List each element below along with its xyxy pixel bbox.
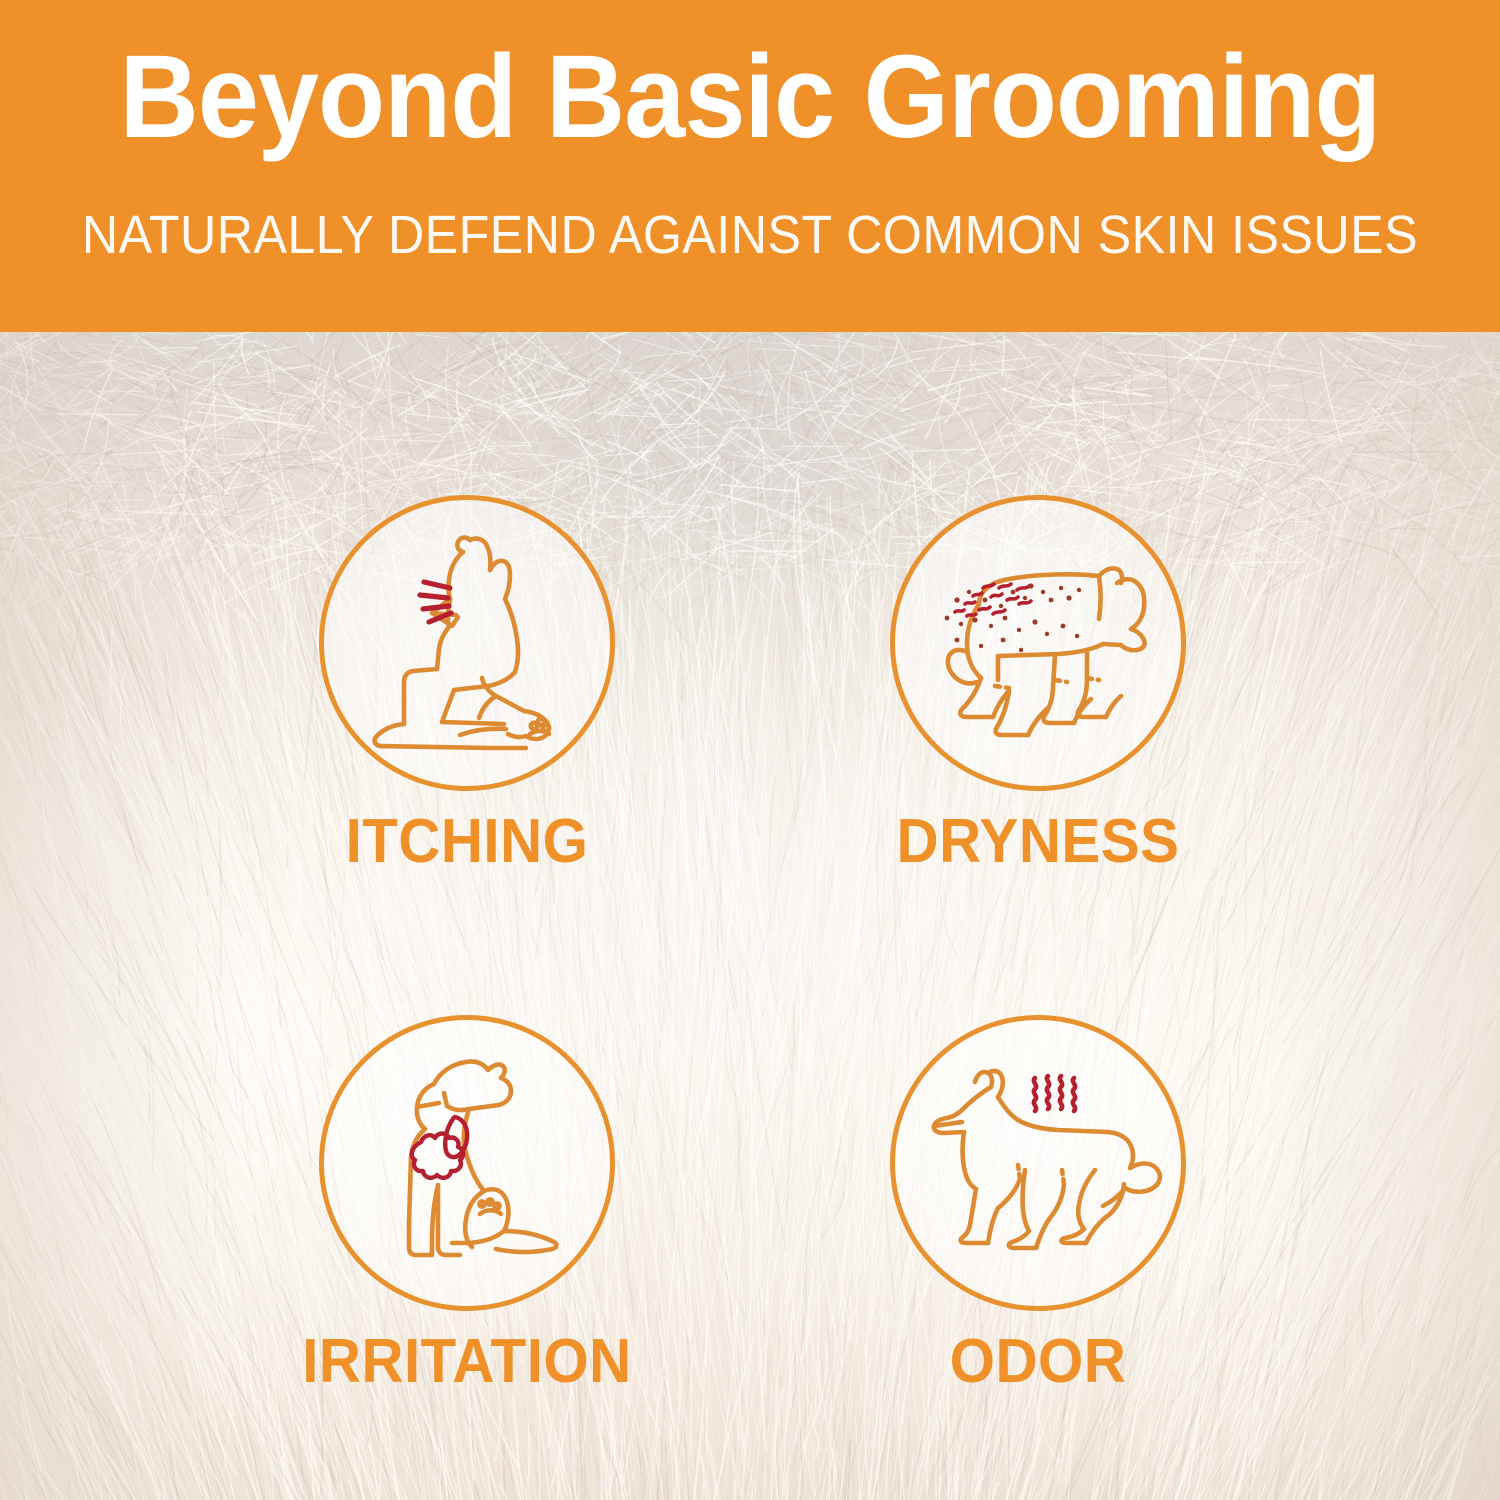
benefit-item-itching: ITCHING	[227, 495, 707, 873]
benefit-label-itching: ITCHING	[241, 811, 692, 873]
benefit-badge-itching	[319, 495, 615, 791]
product-infographic: Beyond Basic Grooming NATURALLY DEFEND A…	[0, 0, 1500, 1500]
benefit-label-dryness: DRYNESS	[812, 811, 1263, 873]
page-subtitle: NATURALLY DEFEND AGAINST COMMON SKIN ISS…	[53, 208, 1448, 262]
benefit-item-irritation: IRRITATION	[227, 1015, 707, 1393]
benefit-item-odor: ODOR	[798, 1015, 1278, 1393]
benefit-badge-odor	[890, 1015, 1186, 1311]
page-title: Beyond Basic Grooming	[53, 38, 1448, 156]
benefit-badge-irritation	[319, 1015, 615, 1311]
benefit-label-irritation: IRRITATION	[241, 1331, 692, 1393]
dog-sitting-rash-patch-icon	[324, 1020, 610, 1306]
header-banner: Beyond Basic Grooming NATURALLY DEFEND A…	[0, 0, 1500, 332]
dog-scratching-icon	[324, 500, 610, 786]
dog-dandruff-flakes-icon	[895, 500, 1181, 786]
benefit-label-odor: ODOR	[812, 1331, 1263, 1393]
benefit-badge-dryness	[890, 495, 1186, 791]
benefit-item-dryness: DRYNESS	[798, 495, 1278, 873]
dog-odor-stink-lines-icon	[895, 1020, 1181, 1306]
